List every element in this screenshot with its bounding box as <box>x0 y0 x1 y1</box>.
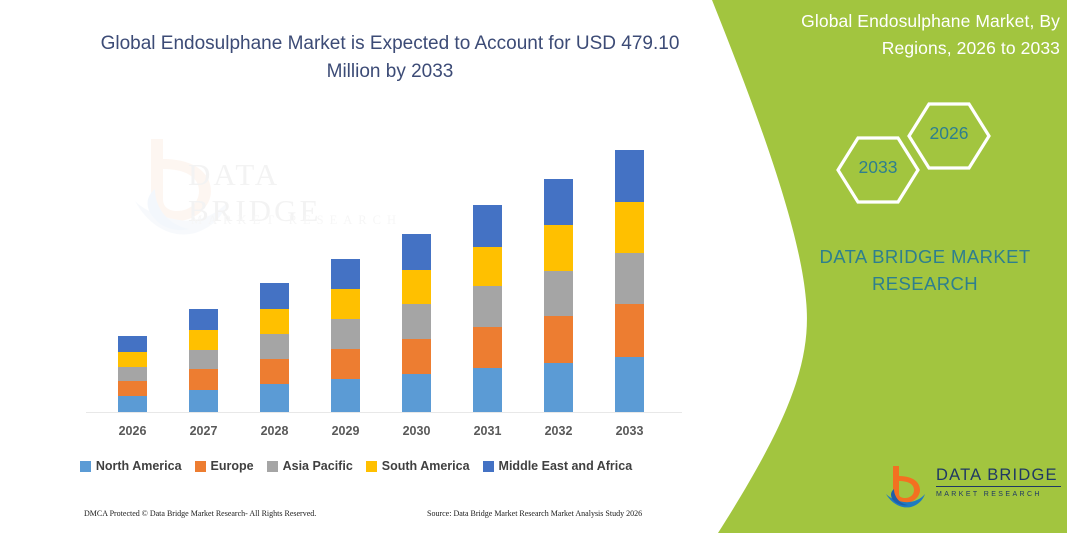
legend-label: Asia Pacific <box>283 459 353 473</box>
bar-segment <box>189 309 218 330</box>
chart-legend: North AmericaEuropeAsia PacificSouth Ame… <box>0 455 712 477</box>
legend-item-middle-east-and-africa[interactable]: Middle East and Africa <box>483 459 633 473</box>
bar-segment <box>331 259 360 290</box>
legend-label: Middle East and Africa <box>499 459 633 473</box>
bar-segment <box>118 336 147 352</box>
bar-2033 <box>615 150 644 412</box>
x-label-2026: 2026 <box>103 424 163 438</box>
legend-item-south-america[interactable]: South America <box>366 459 470 473</box>
bar-segment <box>544 179 573 225</box>
legend-swatch <box>80 461 91 472</box>
bar-segment <box>615 304 644 356</box>
bar-segment <box>473 205 502 247</box>
bar-2026 <box>118 336 147 412</box>
footer-copyright: DMCA Protected © Data Bridge Market Rese… <box>84 509 316 518</box>
legend-item-asia-pacific[interactable]: Asia Pacific <box>267 459 353 473</box>
legend-item-europe[interactable]: Europe <box>195 459 254 473</box>
hexagon-group: 2026 2033 <box>826 98 996 208</box>
x-label-2033: 2033 <box>600 424 660 438</box>
bar-segment <box>544 225 573 270</box>
bar-segment <box>473 368 502 412</box>
chart-area: Global Endosulphane Market is Expected t… <box>0 0 712 533</box>
bar-segment <box>402 234 431 270</box>
bar-segment <box>402 339 431 375</box>
bar-segment <box>402 304 431 339</box>
bar-segment <box>473 286 502 327</box>
bar-segment <box>331 349 360 380</box>
x-label-2027: 2027 <box>174 424 234 438</box>
bar-segment <box>189 350 218 370</box>
bar-segment <box>544 363 573 412</box>
x-label-2028: 2028 <box>245 424 305 438</box>
legend-swatch <box>267 461 278 472</box>
bar-segment <box>118 367 147 382</box>
bar-segment <box>260 309 289 334</box>
x-label-2029: 2029 <box>316 424 376 438</box>
bar-2028 <box>260 283 289 412</box>
data-bridge-logo: DATA BRIDGE MARKET RESEARCH <box>884 462 1059 514</box>
bar-segment <box>260 359 289 385</box>
bar-segment <box>615 202 644 252</box>
panel-title: Global Endosulphane Market, By Regions, … <box>770 8 1060 62</box>
x-axis-labels: 20262027202820292030203120322033 <box>0 424 712 444</box>
data-bridge-logo-mark <box>884 464 930 510</box>
bar-segment <box>402 374 431 412</box>
logo-main-text: DATA BRIDGE <box>936 466 1061 487</box>
bar-segment <box>473 247 502 287</box>
bar-segment <box>118 352 147 367</box>
bar-segment <box>473 327 502 369</box>
bar-segment <box>260 384 289 412</box>
bar-segment <box>402 270 431 305</box>
bar-segment <box>189 369 218 390</box>
x-axis-line <box>86 412 682 413</box>
bar-segment <box>118 396 147 412</box>
bar-segment <box>544 316 573 362</box>
bar-segment <box>260 334 289 359</box>
bar-2027 <box>189 309 218 412</box>
bar-segment <box>615 357 644 412</box>
bar-segment <box>260 283 289 309</box>
bar-segment <box>615 253 644 304</box>
hexagon-label-2026: 2026 <box>911 123 987 144</box>
legend-label: South America <box>382 459 470 473</box>
bar-2031 <box>473 205 502 412</box>
legend-swatch <box>366 461 377 472</box>
bar-segment <box>189 330 218 350</box>
legend-label: North America <box>96 459 182 473</box>
x-label-2032: 2032 <box>529 424 589 438</box>
legend-swatch <box>483 461 494 472</box>
infographic-canvas: Global Endosulphane Market, By Regions, … <box>0 0 1067 533</box>
bar-2029 <box>331 259 360 412</box>
legend-label: Europe <box>211 459 254 473</box>
logo-sub-text: MARKET RESEARCH <box>936 489 1061 501</box>
data-bridge-logo-wordmark: DATA BRIDGE MARKET RESEARCH <box>936 466 1061 501</box>
hexagon-label-2033: 2033 <box>840 157 916 178</box>
bar-segment <box>544 271 573 316</box>
bar-2030 <box>402 234 431 412</box>
bar-group <box>0 0 712 460</box>
legend-item-north-america[interactable]: North America <box>80 459 182 473</box>
bar-segment <box>615 150 644 202</box>
bar-segment <box>331 379 360 412</box>
panel-brand-text: DATA BRIDGE MARKET RESEARCH <box>800 243 1050 297</box>
x-label-2031: 2031 <box>458 424 518 438</box>
bar-2032 <box>544 179 573 412</box>
footer: DMCA Protected © Data Bridge Market Rese… <box>0 505 712 527</box>
bar-segment <box>331 289 360 319</box>
legend-swatch <box>195 461 206 472</box>
bar-segment <box>189 390 218 412</box>
footer-source: Source: Data Bridge Market Research Mark… <box>427 509 642 518</box>
bar-segment <box>118 381 147 396</box>
bar-segment <box>331 319 360 349</box>
x-label-2030: 2030 <box>387 424 447 438</box>
